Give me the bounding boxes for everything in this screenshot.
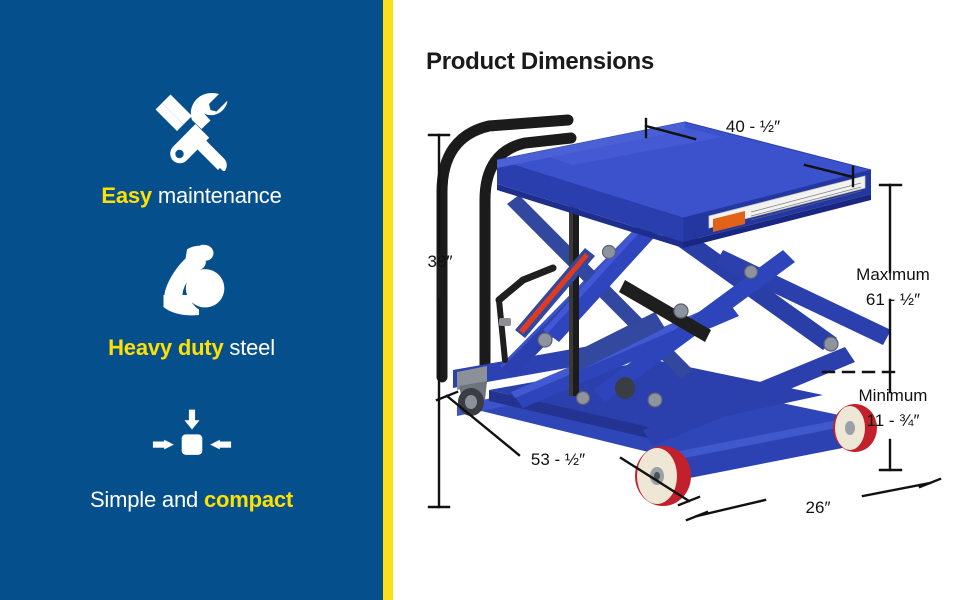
hydraulic-strut [515, 248, 595, 338]
feature-list: Easy maintenance [0, 0, 383, 600]
dim-label-table-width: 40 - ½″ [698, 117, 808, 137]
flexed-bicep-icon [144, 241, 240, 325]
infographic-root: Easy maintenance [0, 0, 970, 600]
page-title: Product Dimensions [426, 48, 654, 76]
compact-arrows-icon [144, 393, 240, 477]
table-platform [497, 122, 871, 248]
foot-pump-lever [499, 268, 553, 360]
yellow-accent-divider [383, 0, 393, 600]
caster-wheel-front-left [635, 446, 691, 506]
push-handle [442, 120, 571, 377]
dimensions-panel: Product Dimensions [393, 0, 970, 600]
feature-label-highlight: Easy [101, 183, 152, 208]
dim-line-overall-length [437, 392, 699, 505]
feature-label-simple-and-compact: Simple and compact [90, 489, 293, 511]
dim-label-minimum-value: 11 - ¾″ [828, 411, 958, 431]
feature-label-highlight: compact [204, 487, 293, 512]
scissor-lower [511, 300, 855, 446]
dim-label-minimum: Minimum [828, 386, 958, 406]
dim-label-maximum: Maximum [828, 265, 958, 285]
pivot-bolts [538, 206, 838, 408]
dim-label-base-width: 26″ [773, 498, 863, 518]
feature-item-simple-and-compact: Simple and compact [0, 393, 383, 511]
feature-label-normal: maintenance [158, 183, 282, 208]
dim-label-maximum-value: 61 - ½″ [828, 290, 958, 310]
feature-label-easy-maintenance: Easy maintenance [101, 185, 281, 207]
dim-label-overall-length: 53 - ½″ [503, 450, 613, 470]
feature-label-normal: Simple and [90, 487, 198, 512]
warning-decal [709, 176, 865, 232]
feature-label-highlight: Heavy duty [108, 335, 223, 360]
feature-item-easy-maintenance: Easy maintenance [0, 89, 383, 207]
dim-line-handle-height [429, 135, 449, 507]
dim-label-handle-height: 38″ [411, 252, 469, 272]
tools-icon [144, 89, 240, 173]
scissor-legs-rear [501, 183, 696, 379]
swivel-caster-rear-right [615, 377, 635, 399]
lift-cylinder [569, 200, 711, 396]
feature-label-normal: steel [229, 335, 274, 360]
feature-item-heavy-duty-steel: Heavy duty steel [0, 241, 383, 359]
feature-label-heavy-duty-steel: Heavy duty steel [108, 337, 275, 359]
swivel-caster-rear [457, 366, 487, 416]
